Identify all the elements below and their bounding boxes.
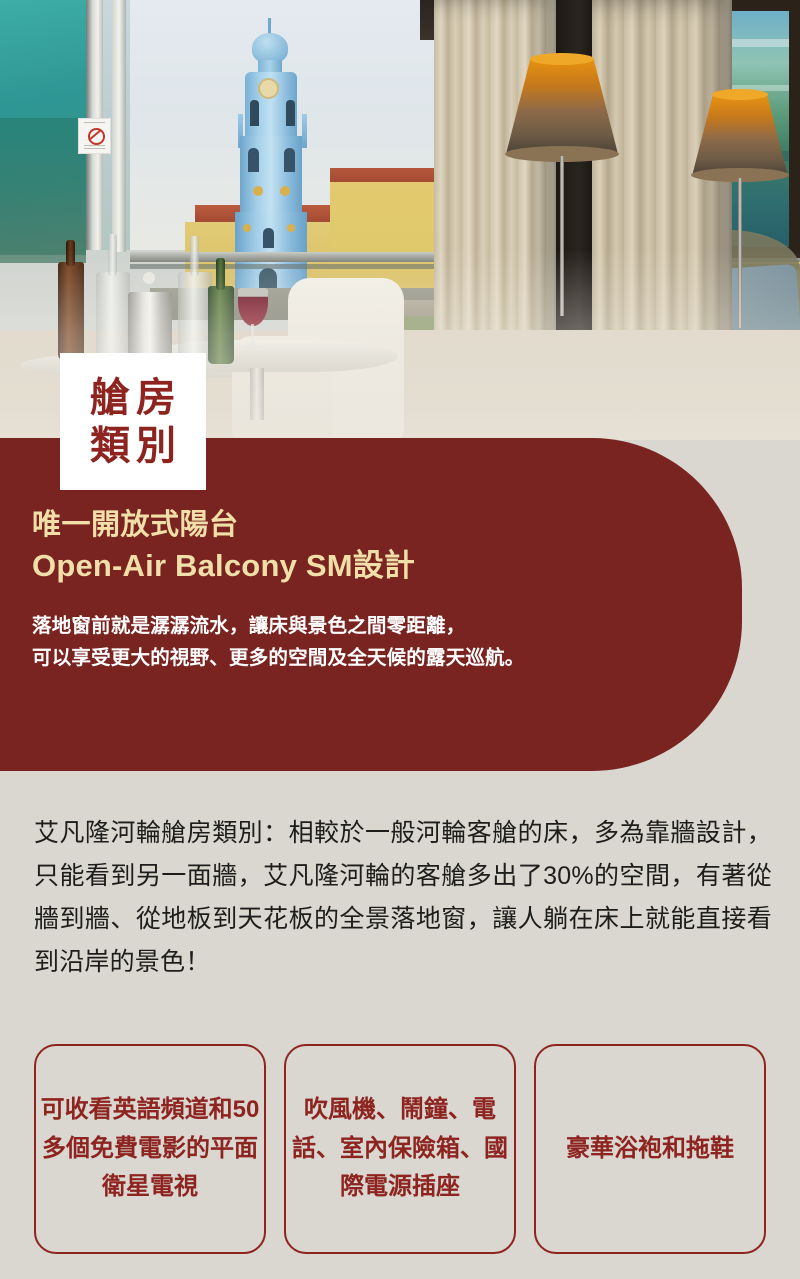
amenity-box-robe-slippers-label: 豪華浴袍和拖鞋 bbox=[566, 1130, 734, 1168]
red-wine-glass bbox=[238, 288, 268, 326]
wine-bottle-neck bbox=[216, 258, 225, 290]
ice-bucket-knob bbox=[143, 272, 155, 284]
wine-glass-stem bbox=[251, 324, 254, 346]
table-pedestal bbox=[250, 368, 264, 420]
section-label-line2: 類別 bbox=[84, 423, 182, 469]
water-bottle-1-neck bbox=[108, 234, 117, 276]
church-tower-icon bbox=[232, 18, 314, 288]
beer-bottle-neck bbox=[66, 240, 75, 266]
no-smoking-sign-icon bbox=[78, 118, 111, 154]
water-bottle-2 bbox=[178, 272, 212, 362]
beer-bottle bbox=[58, 262, 84, 360]
water-bottle-2-neck bbox=[190, 236, 199, 276]
amenity-boxes: 可收看英語頻道和50多個免費電影的平面衛星電視 吹風機、鬧鐘、電話、室內保險箱、… bbox=[34, 1044, 766, 1254]
amenity-box-room-equipment: 吹風機、鬧鐘、電話、室內保險箱、國際電源插座 bbox=[284, 1044, 516, 1254]
body-paragraph: 艾凡隆河輪艙房類別：相較於一般河輪客艙的床，多為靠牆設計，只能看到另一面牆，艾凡… bbox=[34, 812, 772, 984]
banner-subtitle-line1: 落地窗前就是潺潺流水，讓床與景色之間零距離， bbox=[32, 611, 742, 643]
section-label-line1: 艙房 bbox=[84, 375, 182, 421]
wine-glass-foot bbox=[241, 344, 264, 349]
amenity-box-room-equipment-label: 吹風機、鬧鐘、電話、室內保險箱、國際電源插座 bbox=[290, 1091, 510, 1206]
amenity-box-tv-label: 可收看英語頻道和50多個免費電影的平面衛星電視 bbox=[40, 1091, 260, 1206]
promo-page: 艙房 類別 唯一開放式陽台 Open-Air Balcony SM設計 落地窗前… bbox=[0, 0, 800, 1279]
section-label-box: 艙房 類別 bbox=[60, 353, 206, 490]
banner-title-zh: 唯一開放式陽台 bbox=[32, 506, 742, 545]
amenity-box-robe-slippers: 豪華浴袍和拖鞋 bbox=[534, 1044, 766, 1254]
banner-subtitle-line2: 可以享受更大的視野、更多的空間及全天候的露天巡航。 bbox=[32, 643, 742, 675]
wine-bottle bbox=[208, 286, 234, 364]
banner-title-en: Open-Air Balcony SM設計 bbox=[32, 545, 742, 587]
amenity-box-tv: 可收看英語頻道和50多個免費電影的平面衛星電視 bbox=[34, 1044, 266, 1254]
window-frame bbox=[112, 0, 126, 252]
water-bottle-1 bbox=[96, 272, 130, 362]
